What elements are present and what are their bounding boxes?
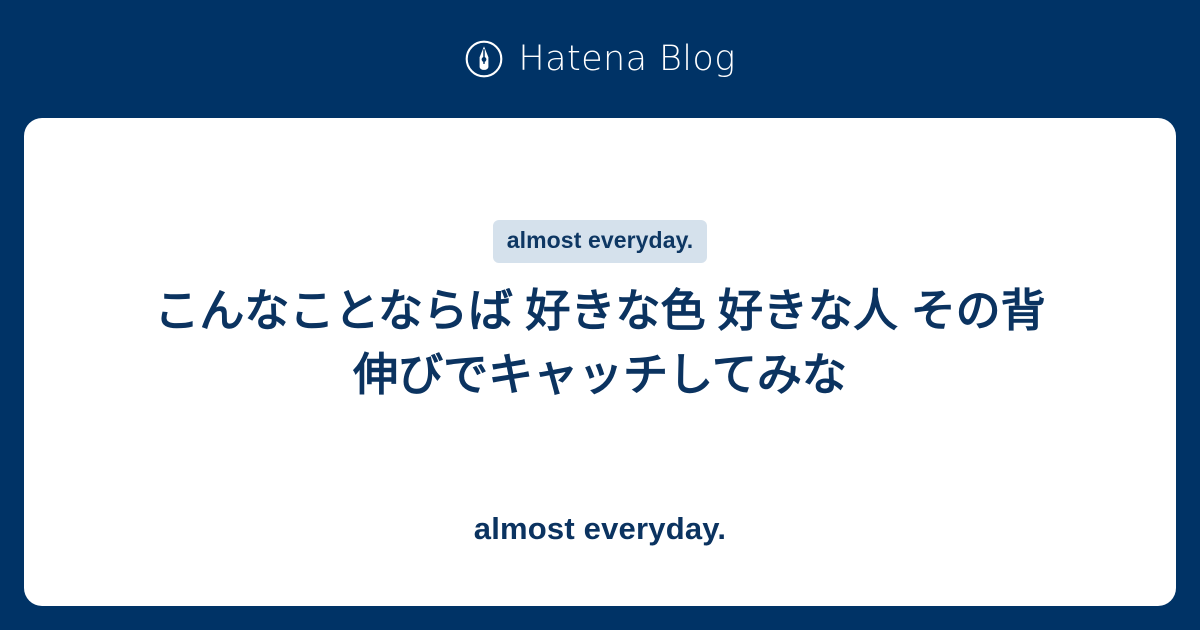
pen-nib-in-circle-icon [464, 39, 504, 79]
entry-title: こんなことならば 好きな色 好きな人 その背伸びでキャッチしてみな [150, 279, 1050, 407]
blog-title[interactable]: almost everyday. [474, 513, 727, 544]
badge-row: almost everyday. [84, 220, 1116, 263]
entry-card: almost everyday. こんなことならば 好きな色 好きな人 その背伸… [24, 118, 1176, 606]
site-header: Hatena Blog [0, 0, 1200, 118]
hatena-blog-wordmark: Hatena Blog [518, 42, 735, 77]
og-image-canvas: Hatena Blog almost everyday. こんなことならば 好き… [0, 0, 1200, 630]
hatena-blog-brand[interactable]: Hatena Blog [464, 39, 735, 79]
category-badge[interactable]: almost everyday. [493, 220, 708, 263]
